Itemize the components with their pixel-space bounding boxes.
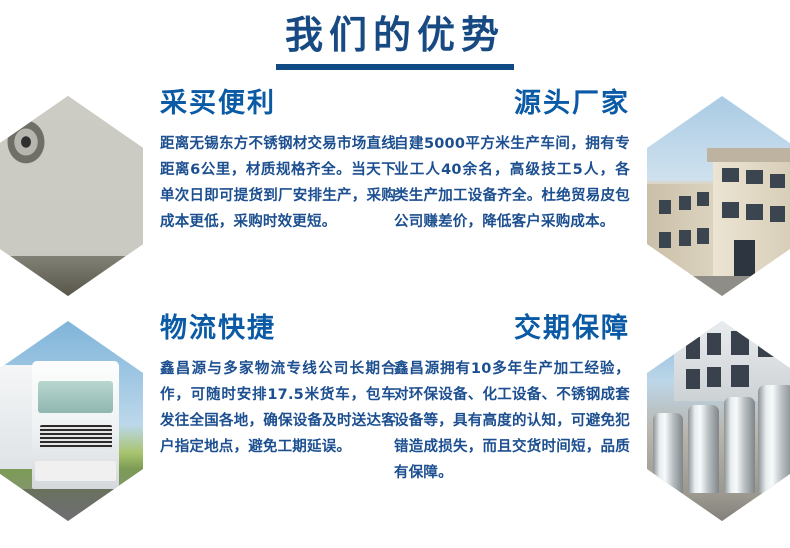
feature-card-procurement-convenience: 采买便利 距离无锡东方不锈钢材交易市场直线距离6公里，材质规格齐全。当天下单次日… <box>0 88 395 306</box>
steel-tanks-icon <box>647 321 790 521</box>
building-window <box>697 228 709 244</box>
building-window <box>707 367 721 387</box>
feature-card-fast-logistics: 物流快捷 鑫昌源与多家物流专线公司长期合作，可随时安排17.5米货车，包车发往全… <box>0 313 395 531</box>
feature-copy: 物流快捷 鑫昌源与多家物流专线公司长期合作，可随时安排17.5米货车，包车发往全… <box>160 313 396 461</box>
title-underline <box>276 64 514 70</box>
hexagon-image-stainless-steel-tanks <box>647 321 790 521</box>
feature-card-source-manufacturer: 源头厂家 自建5000平方米生产车间，拥有专业工人40余名，高级技工5人，各类生… <box>395 88 790 306</box>
building-window <box>679 196 691 210</box>
feature-card-delivery-guarantee: 交期保障 鑫昌源拥有10多年生产加工经验，对环保设备、化工设备、不锈钢成套设备等… <box>395 313 790 531</box>
feature-title: 物流快捷 <box>160 313 396 345</box>
page-title: 我们的优势 <box>0 14 790 58</box>
truck-icon <box>0 321 143 521</box>
truck-bumper <box>35 461 116 481</box>
building-window <box>679 230 691 246</box>
feature-title: 源头厂家 <box>394 88 630 120</box>
building-window <box>722 202 739 218</box>
feature-body: 鑫昌源与多家物流专线公司长期合作，可随时安排17.5米货车，包车发往全国各地，确… <box>160 357 396 460</box>
steel-coils-icon <box>0 96 143 296</box>
building-roof <box>707 148 790 162</box>
tank-yard-ground <box>647 493 790 521</box>
hexagon-image-factory-office-building <box>647 96 790 296</box>
our-advantages-page: { "header": { "title": "我们的优势", "title_c… <box>0 0 790 548</box>
factory-building-icon <box>647 96 790 296</box>
feature-body: 自建5000平方米生产车间，拥有专业工人40余名，高级技工5人，各类生产加工设备… <box>394 132 630 235</box>
building-entrance <box>734 240 755 280</box>
building-window <box>722 168 739 182</box>
building-window <box>686 337 700 359</box>
feature-body: 鑫昌源拥有10多年生产加工经验，对环保设备、化工设备、不锈钢成套设备等，具有高度… <box>394 357 630 486</box>
building-window <box>758 333 776 357</box>
storage-tank <box>724 397 756 497</box>
truck-windshield <box>38 381 113 413</box>
feature-title: 采买便利 <box>160 88 396 120</box>
building-window <box>770 174 785 188</box>
storage-tank <box>758 385 790 497</box>
building-window <box>731 365 749 387</box>
building-window <box>746 204 763 220</box>
storage-tank <box>653 413 683 497</box>
hexagon-image-stainless-steel-coils <box>0 96 143 296</box>
feature-body: 距离无锡东方不锈钢材交易市场直线距离6公里，材质规格齐全。当天下单次日即可提货到… <box>160 132 396 235</box>
truck-grille <box>40 425 112 449</box>
feature-grid: 采买便利 距离无锡东方不锈钢材交易市场直线距离6公里，材质规格齐全。当天下单次日… <box>0 88 790 538</box>
feature-title: 交期保障 <box>394 313 630 345</box>
truck-road <box>0 489 143 521</box>
building-window <box>731 331 749 355</box>
building-window <box>770 206 785 222</box>
building-window <box>686 369 700 389</box>
building-window <box>697 192 709 206</box>
hexagon-image-white-freight-truck <box>0 321 143 521</box>
page-header: 我们的优势 <box>0 14 790 70</box>
building-window <box>707 333 721 355</box>
building-window <box>659 200 671 214</box>
feature-copy: 采买便利 距离无锡东方不锈钢材交易市场直线距离6公里，材质规格齐全。当天下单次日… <box>160 88 396 236</box>
storage-tank <box>688 405 720 497</box>
building-window <box>746 170 763 184</box>
feature-copy: 源头厂家 自建5000平方米生产车间，拥有专业工人40余名，高级技工5人，各类生… <box>394 88 630 236</box>
building-ground <box>647 276 790 296</box>
feature-copy: 交期保障 鑫昌源拥有10多年生产加工经验，对环保设备、化工设备、不锈钢成套设备等… <box>394 313 630 486</box>
building-window <box>659 232 671 248</box>
